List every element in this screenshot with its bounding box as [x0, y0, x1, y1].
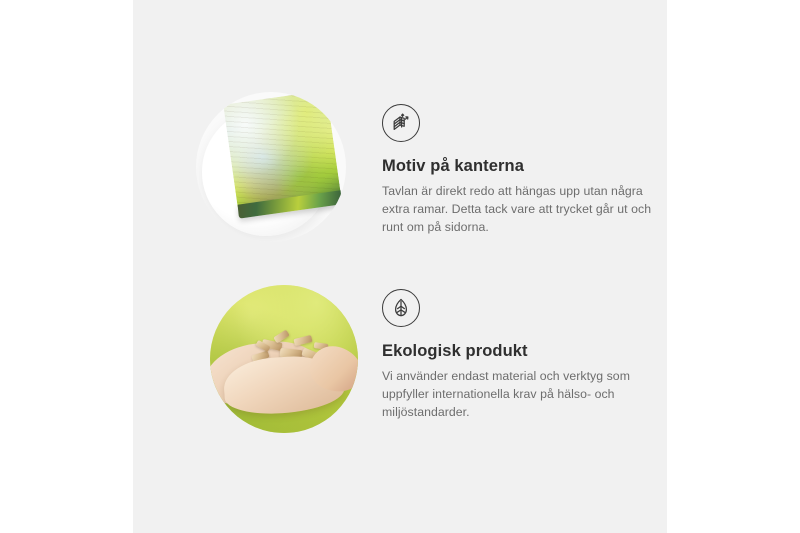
canvas-wrapped-edge-glyph	[389, 111, 413, 135]
feature-1-body: Tavlan är direkt redo att hängas upp uta…	[382, 182, 657, 237]
content-panel: Motiv på kanterna Tavlan är direkt redo …	[133, 0, 667, 533]
feature-2-headline: Ekologisk produkt	[382, 341, 657, 362]
feature-motiv-pa-kanterna: Motiv på kanterna Tavlan är direkt redo …	[133, 60, 667, 275]
feature-2-body: Vi använder endast material och verktyg …	[382, 367, 657, 422]
hands-with-wood-chips-photo	[210, 285, 358, 433]
product-benefits-banner: Motiv på kanterna Tavlan är direkt redo …	[0, 0, 800, 533]
canvas-texture	[223, 92, 340, 208]
feature-2-copy: Ekologisk produkt Vi använder endast mat…	[382, 289, 657, 421]
leaf-icon	[382, 289, 420, 327]
canvas-wrapped-edge-icon	[382, 104, 420, 142]
feature-ekologisk-produkt: Ekologisk produkt Vi använder endast mat…	[133, 265, 667, 480]
leaf-glyph	[389, 296, 413, 320]
canvas-artwork-face	[223, 92, 340, 208]
canvas-block	[223, 92, 340, 208]
feature-1-headline: Motiv på kanterna	[382, 156, 657, 177]
feature-1-copy: Motiv på kanterna Tavlan är direkt redo …	[382, 104, 657, 236]
canvas-print-photo	[196, 92, 346, 242]
